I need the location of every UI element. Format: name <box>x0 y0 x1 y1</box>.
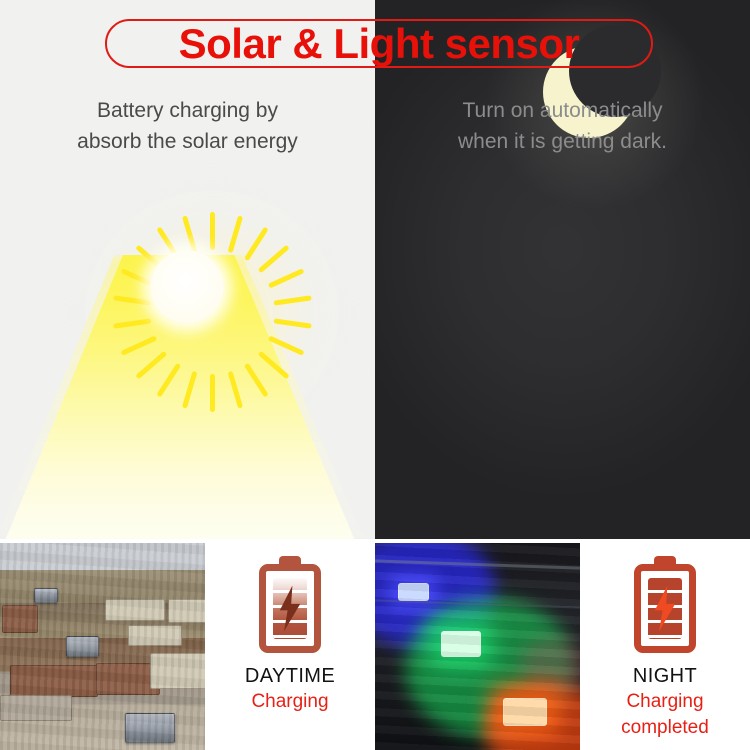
battery-full-icon <box>634 556 696 653</box>
night-status-subtitle: Charging completed <box>580 689 750 741</box>
sun-ray <box>181 215 197 253</box>
sun-ray <box>257 351 289 380</box>
night-caption-line2: when it is getting dark. <box>375 126 750 157</box>
daytime-installation-photo <box>0 543 205 750</box>
night-caption: Turn on automatically when it is getting… <box>375 95 750 157</box>
daytime-caption-line2: absorb the solar energy <box>0 126 375 157</box>
sun-disc-icon <box>150 250 224 324</box>
sun-ray <box>243 363 268 398</box>
sun-ray <box>267 335 304 355</box>
sun-ray <box>113 318 151 328</box>
night-battery-label: NIGHT Charging completed <box>580 663 750 741</box>
night-installation-photo <box>375 543 580 750</box>
sun-ray <box>156 363 181 398</box>
daytime-caption: Battery charging by absorb the solar ene… <box>0 95 375 157</box>
night-comparison-cell: NIGHT Charging completed <box>375 543 750 750</box>
daytime-battery-block: DAYTIME Charging <box>205 543 375 750</box>
sun-ray <box>273 295 311 305</box>
sun-ray <box>210 374 215 412</box>
daytime-status-subtitle: Charging <box>205 689 375 715</box>
sun-ray <box>210 212 215 250</box>
comparison-strip: DAYTIME Charging <box>0 543 750 750</box>
sun-ray <box>273 318 311 328</box>
product-feature-banner: Solar & Light sensor Battery charging by… <box>0 0 750 750</box>
battery-charging-icon <box>259 556 321 653</box>
sun-ray <box>227 371 243 409</box>
night-sensor-panel <box>375 0 750 539</box>
sun-ray <box>120 335 157 355</box>
daytime-comparison-cell: DAYTIME Charging <box>0 543 375 750</box>
night-status-title: NIGHT <box>580 663 750 689</box>
split-hero-section: Solar & Light sensor Battery charging by… <box>0 0 750 539</box>
sun-ray <box>135 351 167 380</box>
sun-ray <box>227 215 243 253</box>
night-caption-line1: Turn on automatically <box>375 95 750 126</box>
daytime-status-title: DAYTIME <box>205 663 375 689</box>
daytime-caption-line1: Battery charging by <box>0 95 375 126</box>
sun-ray <box>113 295 151 305</box>
page-title: Solar & Light sensor <box>105 15 653 72</box>
sun-ray <box>243 227 268 262</box>
sun-ray <box>267 268 304 288</box>
night-battery-block: NIGHT Charging completed <box>580 543 750 750</box>
daytime-solar-panel <box>0 0 375 539</box>
sun-ray <box>257 245 289 274</box>
sun-ray <box>181 371 197 409</box>
daytime-battery-label: DAYTIME Charging <box>205 663 375 715</box>
